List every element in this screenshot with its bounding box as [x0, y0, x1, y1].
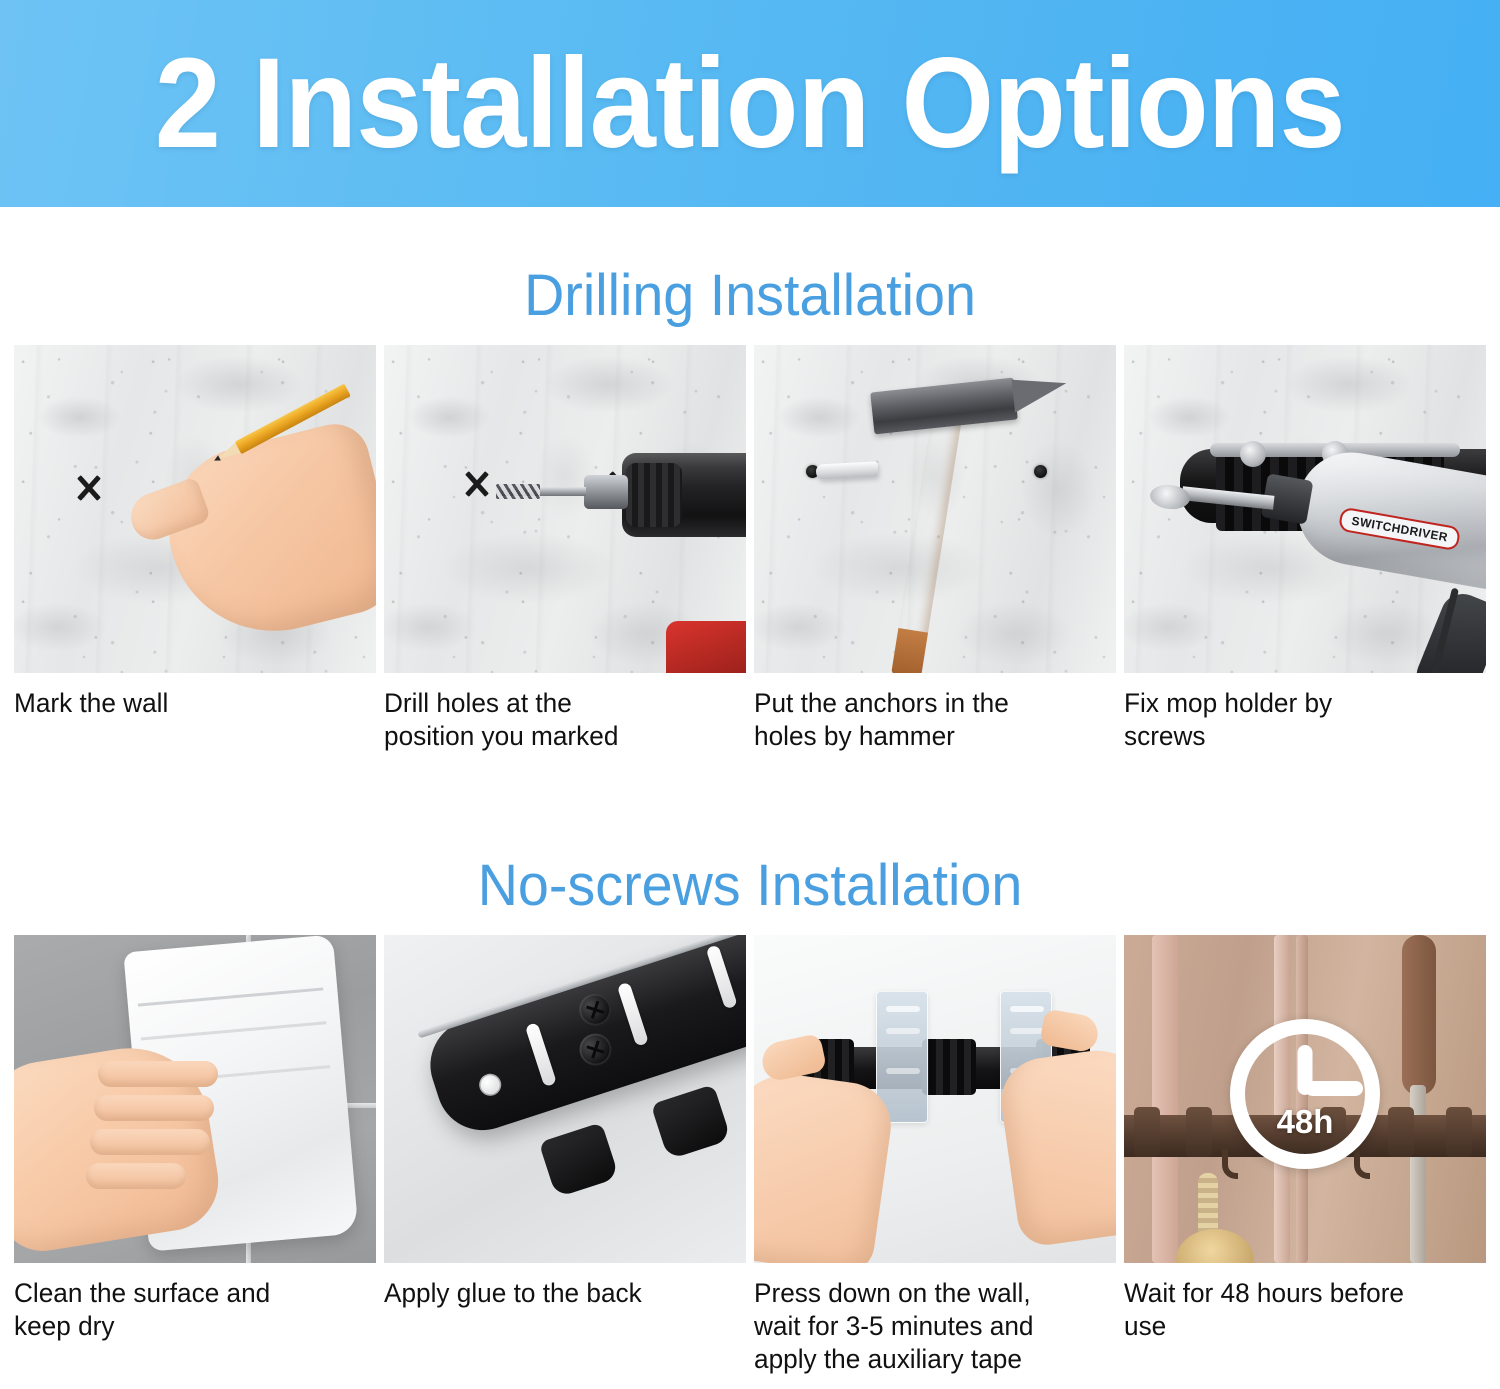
photo-fix-by-screws: SWITCHDRIVER	[1124, 345, 1486, 673]
wait-time-label: 48h	[1230, 1103, 1380, 1141]
photo-mark-the-wall	[14, 345, 376, 673]
photo-clean-surface	[14, 935, 376, 1263]
step-card-drill-holes: Drill holes at the position you marked	[384, 345, 746, 753]
step-caption: Wait for 48 hours before use	[1124, 1277, 1475, 1343]
mop-handle	[1402, 935, 1436, 1095]
glue-bead	[525, 1022, 557, 1087]
finger	[86, 1163, 186, 1189]
glue-bead	[706, 945, 738, 1010]
hand-illustration	[754, 1067, 896, 1263]
screw-head-icon	[1240, 441, 1266, 467]
photo-wait-48-hours: 48h	[1124, 935, 1486, 1263]
step-caption: Drill holes at the position you marked	[384, 687, 735, 753]
step-caption: Apply glue to the back	[384, 1277, 735, 1310]
header-banner: 2 Installation Options	[0, 0, 1500, 207]
drill-bit	[500, 487, 586, 496]
holder-clamp	[922, 1039, 976, 1095]
step-card-press-wall: Press down on the wall, wait for 3-5 min…	[754, 935, 1116, 1376]
photo-apply-glue	[384, 935, 746, 1263]
finger	[94, 1095, 214, 1121]
holder-knob	[1388, 1107, 1414, 1157]
step-card-clean-surface: Clean the surface and keep dry	[14, 935, 376, 1376]
finger	[98, 1061, 218, 1087]
drill-chuck	[584, 475, 628, 509]
photo-drill-holes	[384, 345, 746, 673]
clock-hand-hour	[1305, 1081, 1363, 1096]
step-caption: Press down on the wall, wait for 3-5 min…	[754, 1277, 1105, 1376]
x-mark-icon	[462, 469, 492, 499]
section-heading-no-screws: No-screws Installation	[30, 852, 1470, 919]
step-card-anchors: Put the anchors in the holes by hammer	[754, 345, 1116, 753]
step-card-fix-screws: SWITCHDRIVER Fix mop holder by screws	[1124, 345, 1486, 753]
glue-bead	[617, 982, 649, 1047]
step-caption: Fix mop holder by screws	[1124, 687, 1475, 753]
x-mark-icon	[74, 473, 104, 503]
holder-knob	[1186, 1107, 1212, 1157]
mounting-hole	[476, 1071, 504, 1099]
finger	[90, 1129, 210, 1155]
page-title: 2 Installation Options	[155, 40, 1345, 168]
section-heading-drilling: Drilling Installation	[30, 262, 1470, 329]
step-card-wait-48h: 48h Wait for 48 hours before use	[1124, 935, 1486, 1376]
photo-anchors-by-hammer	[754, 345, 1116, 673]
no-screws-steps-grid: Clean the surface and keep dry Apply glu…	[14, 935, 1486, 1376]
step-caption: Clean the surface and keep dry	[14, 1277, 365, 1343]
photo-press-on-wall	[754, 935, 1116, 1263]
drill-battery-body	[666, 621, 746, 673]
mop-handle	[1152, 935, 1178, 1263]
screw-head-icon	[575, 990, 615, 1030]
clock-badge: 48h	[1230, 1019, 1380, 1169]
holder-knob	[1446, 1107, 1472, 1157]
screw-head-icon	[575, 1029, 615, 1069]
drilling-steps-grid: Mark the wall Drill holes at the positio…	[14, 345, 1486, 753]
step-caption: Put the anchors in the holes by hammer	[754, 687, 1105, 753]
step-caption: Mark the wall	[14, 687, 365, 720]
holder-knob	[1134, 1107, 1160, 1157]
drilled-hole	[1034, 465, 1047, 478]
step-card-mark-wall: Mark the wall	[14, 345, 376, 753]
step-card-apply-glue: Apply glue to the back	[384, 935, 746, 1376]
power-drill-icon	[622, 453, 746, 537]
